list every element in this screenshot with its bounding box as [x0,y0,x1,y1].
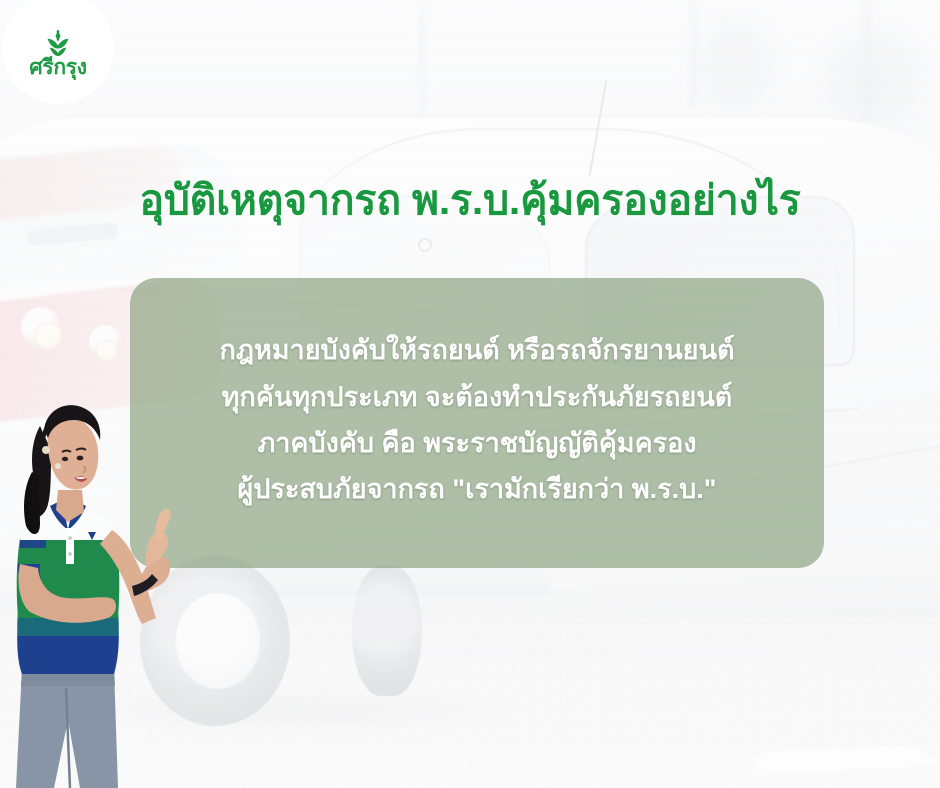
hair-tie [42,446,50,454]
infographic-canvas: ศรีกรุง อุบัติเหตุจากรถ พ.ร.บ.คุ้มครองอย… [0,0,940,788]
message-line: กฎหมายบังคับให้รถยนต์ หรือรถจักรยานยนต์ [219,331,734,369]
message-line: ทุกคันทุกประเภท จะต้องทำประกันภัยรถยนต์ [222,378,733,416]
presenter-earring [55,463,61,469]
presenter-eye [62,457,68,461]
shirt-button [68,552,72,556]
presenter-photo [0,368,186,788]
shirt-button [68,536,72,540]
presenter-face [48,416,99,489]
message-line: ผู้ประสบภัยจากรถ "เรามักเรียกว่า พ.ร.บ." [237,470,716,508]
message-line: ภาคบังคับ คือ พระราชบัญญัติคุ้มครอง [257,424,696,462]
sprout-icon [43,29,73,59]
presenter-placket [66,528,74,564]
brand-logo-text: ศรีกรุง [29,57,86,78]
presenter-illustration [0,368,186,788]
message-panel-text: กฎหมายบังคับให้รถยนต์ หรือรถจักรยานยนต์ … [130,278,824,568]
presenter-eye [77,456,84,461]
presenter-ponytail [24,472,40,534]
page-title: อุบัติเหตุจากรถ พ.ร.บ.คุ้มครองอย่างไร [0,178,940,223]
sleeve-stripe [20,540,46,548]
